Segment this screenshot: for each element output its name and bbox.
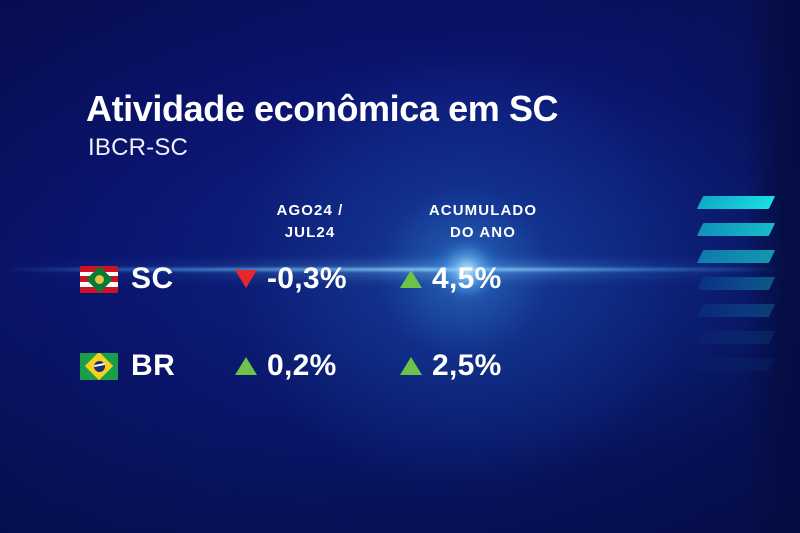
column-header-acumulado-line1: ACUMULADO (388, 200, 578, 222)
indicator-table: AGO24 / JUL24 ACUMULADO DO ANO SC (80, 200, 600, 436)
row-identity-sc: SC (80, 262, 174, 296)
chevron-bar (697, 358, 775, 371)
chevron-bar (697, 304, 775, 317)
cell-br-mensal: 0,2% (235, 349, 337, 383)
table-column-headers: AGO24 / JUL24 ACUMULADO DO ANO (80, 200, 600, 262)
chevron-bar (697, 250, 775, 263)
chevron-bars-graphic (700, 196, 786, 386)
flag-brazil (80, 353, 118, 380)
triangle-up-icon (235, 357, 257, 375)
triangle-down-icon (235, 270, 257, 288)
chevron-bar (697, 196, 775, 209)
value-sc-mensal: -0,3% (267, 262, 347, 296)
column-header-acumulado-line2: DO ANO (388, 222, 578, 244)
value-sc-acumulado: 4,5% (432, 262, 502, 296)
economic-activity-infographic: Atividade econômica em SC IBCR-SC AGO24 … (0, 0, 800, 533)
triangle-up-icon (400, 270, 422, 288)
value-br-acumulado: 2,5% (432, 349, 502, 383)
header: Atividade econômica em SC IBCR-SC (86, 90, 558, 161)
chevron-bar (697, 277, 775, 290)
chevron-bar (697, 223, 775, 236)
row-label-sc: SC (131, 262, 174, 296)
column-header-mensal-line1: AGO24 / (240, 200, 380, 222)
cell-sc-acumulado: 4,5% (400, 262, 502, 296)
table-row: BR 0,2% 2,5% (80, 349, 600, 436)
flag-santa-catarina (80, 266, 118, 293)
value-br-mensal: 0,2% (267, 349, 337, 383)
coat-of-arms-icon (95, 275, 104, 284)
page-subtitle: IBCR-SC (88, 135, 558, 161)
triangle-up-icon (400, 357, 422, 375)
table-row: SC -0,3% 4,5% (80, 262, 600, 349)
chevron-bar (697, 331, 775, 344)
row-identity-br: BR (80, 349, 175, 383)
cell-br-acumulado: 2,5% (400, 349, 502, 383)
column-header-acumulado: ACUMULADO DO ANO (388, 200, 578, 244)
column-header-mensal: AGO24 / JUL24 (240, 200, 380, 244)
page-title: Atividade econômica em SC (86, 90, 558, 129)
row-label-br: BR (131, 349, 175, 383)
cell-sc-mensal: -0,3% (235, 262, 347, 296)
column-header-mensal-line2: JUL24 (240, 222, 380, 244)
